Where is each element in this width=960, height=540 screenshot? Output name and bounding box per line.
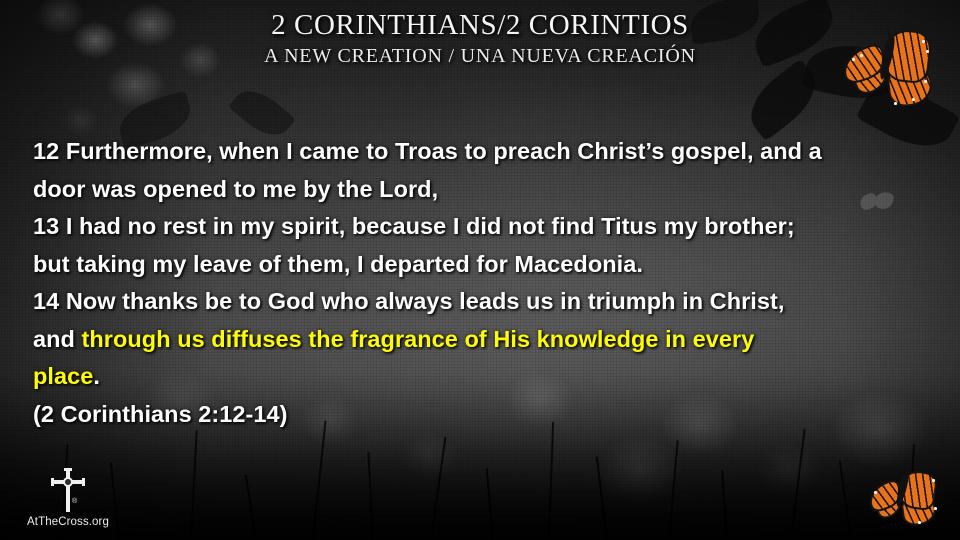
scripture-text: 12 Furthermore, when I came to Troas to …: [33, 133, 933, 433]
scripture-line: 13 I had no rest in my spirit, because I…: [33, 208, 933, 246]
monarch-butterfly-bottom-right-icon: [866, 463, 960, 527]
highlighted-text: through us diffuses the fragrance of His…: [82, 326, 755, 352]
site-logo[interactable]: ® AtTheCross.org: [16, 468, 120, 528]
scripture-text-segment: .: [93, 363, 100, 389]
scripture-text-segment: door was opened to me by the Lord,: [33, 176, 438, 202]
scripture-line: and through us diffuses the fragrance of…: [33, 321, 933, 359]
scripture-slide: 2 CORINTHIANS/2 CORINTIOS A NEW CREATION…: [0, 0, 960, 540]
scripture-text-segment: 13 I had no rest in my spirit, because I…: [33, 213, 795, 239]
registered-mark: ®: [72, 498, 77, 505]
slide-subtitle: A NEW CREATION / UNA NUEVA CREACIÓN: [0, 43, 960, 69]
slide-title: 2 CORINTHIANS/2 CORINTIOS: [0, 8, 960, 42]
scripture-text-segment: 12 Furthermore, when I came to Troas to …: [33, 138, 822, 164]
scripture-line: 14 Now thanks be to God who always leads…: [33, 283, 933, 321]
scripture-line: place.: [33, 358, 933, 396]
scripture-text-segment: (2 Corinthians 2:12-14): [33, 401, 288, 427]
scripture-line: 12 Furthermore, when I came to Troas to …: [33, 133, 933, 171]
logo-text: AtTheCross.org: [16, 516, 120, 528]
scripture-text-segment: but taking my leave of them, I departed …: [33, 251, 643, 277]
cross-icon: ®: [45, 468, 91, 514]
scripture-line: but taking my leave of them, I departed …: [33, 246, 933, 284]
title-block: 2 CORINTHIANS/2 CORINTIOS A NEW CREATION…: [0, 8, 960, 69]
scripture-line: (2 Corinthians 2:12-14): [33, 396, 933, 434]
scripture-text-segment: 14 Now thanks be to God who always leads…: [33, 288, 784, 314]
highlighted-text: place: [33, 363, 93, 389]
scripture-line: door was opened to me by the Lord,: [33, 171, 933, 209]
scripture-text-segment: and: [33, 326, 82, 352]
